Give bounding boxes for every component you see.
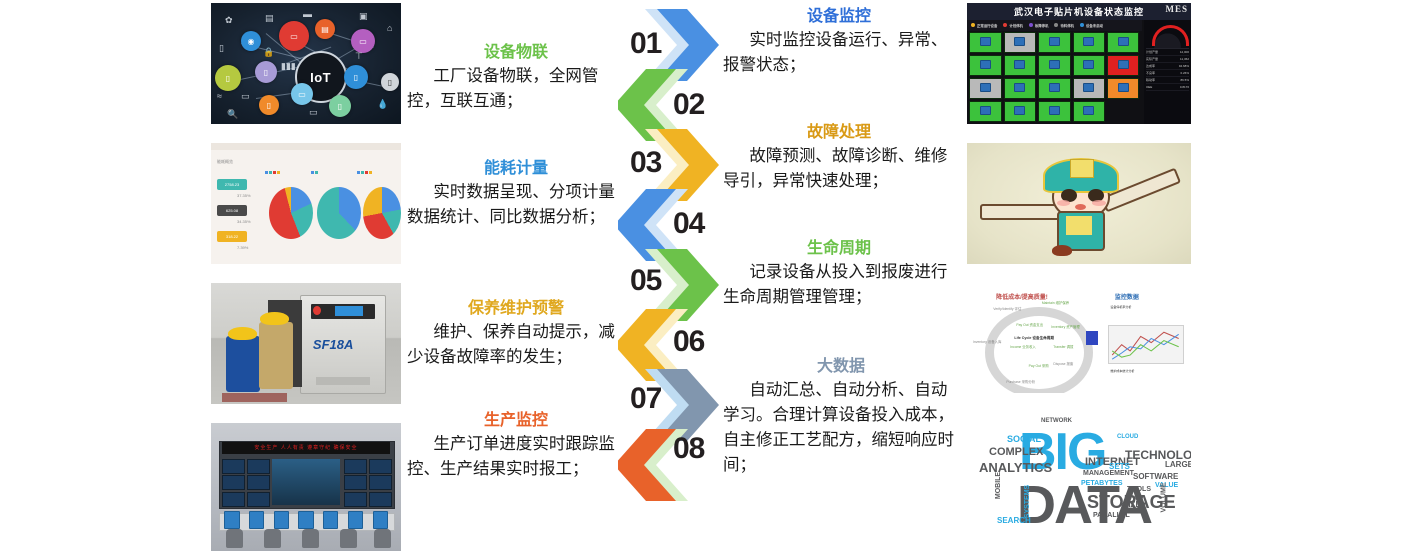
repair-mascot-image bbox=[967, 143, 1191, 264]
machine-model-label: SF18A bbox=[313, 337, 353, 352]
lifecycle-bullets-bottom: 维护成本统计分析 bbox=[1110, 369, 1186, 373]
step-number-04: 04 bbox=[673, 207, 704, 241]
step-text-04: 故障处理 故障预测、故障诊断、维修导引，异常快速处理； bbox=[723, 124, 955, 194]
mes-legend-1: 计划停机 bbox=[1009, 23, 1023, 28]
bigdata-word-complex: COMPLEX bbox=[989, 446, 1043, 458]
step-text-03: 能耗计量 实时数据呈现、分项计量数据统计、同比数据分析； bbox=[407, 160, 625, 230]
step-text-01: 设备物联 工厂设备物联，全网管控，互联互通； bbox=[407, 44, 625, 114]
step-number-01: 01 bbox=[630, 27, 661, 61]
energy-kpi-2-pct: 34.35% bbox=[237, 219, 251, 224]
step-number-03: 03 bbox=[630, 146, 661, 180]
lifecycle-node-maintain: Maintain 维护保养 bbox=[1036, 301, 1074, 305]
lifecycle-headline: 降低成本/提高质量! bbox=[996, 292, 1048, 301]
lifecycle-node-income: Income 业务收入 bbox=[1005, 345, 1041, 349]
control-room-banner: 安全生产 人人有责 遵章守纪 确保安全 bbox=[222, 442, 389, 454]
step-title-04: 故障处理 bbox=[723, 124, 955, 142]
bigdata-word-size: SIZE bbox=[1123, 500, 1141, 509]
lifecycle-node-inventory: Inventory 设备入库 bbox=[969, 340, 1005, 344]
worker-blue bbox=[226, 336, 260, 392]
step-number-08: 08 bbox=[673, 432, 704, 466]
bigdata-word-systems: SYSTEMS bbox=[1024, 485, 1031, 518]
lifecycle-node-inventory2: Inventory 资产管理 bbox=[1048, 325, 1084, 329]
mes-metric-5-value: 0.8176 bbox=[1180, 85, 1189, 89]
bigdata-word-parallel: PARALLEL bbox=[1093, 512, 1130, 519]
energy-pie-2 bbox=[317, 187, 361, 239]
step-title-06: 生命周期 bbox=[723, 240, 955, 258]
bigdata-word-network: NETWORK bbox=[1041, 418, 1072, 424]
mes-legend-4: 设备未启动 bbox=[1086, 23, 1103, 28]
mes-metric-0-value: 12,000 bbox=[1180, 50, 1189, 54]
bigdata-word-tools: TOOLS bbox=[1127, 486, 1151, 493]
energy-dashboard-image: 能耗概览 2758.23 37.35% 625.08 34.35% 318.22… bbox=[211, 143, 401, 264]
mes-side-metrics: 计划产量12,000 实际产量11,362 达成率94.68% 不良率0.26%… bbox=[1144, 20, 1191, 124]
step-title-03: 能耗计量 bbox=[407, 160, 625, 178]
step-title-08: 大数据 bbox=[723, 358, 959, 376]
step-title-02: 设备监控 bbox=[723, 8, 955, 26]
energy-pie-1 bbox=[269, 187, 313, 239]
step-text-07: 生产监控 生产订单进度实时跟踪监控、生产结果实时报工； bbox=[407, 412, 625, 482]
step-number-02: 02 bbox=[673, 88, 704, 122]
mes-metric-1-label: 实际产量 bbox=[1146, 57, 1158, 61]
bigdata-word-large: LARGE bbox=[1165, 460, 1191, 469]
lifecycle-center-label: Life Cycle 设备生命周期 bbox=[1012, 336, 1057, 341]
step-body-06: 记录设备从投入到报废进行生命周期管理管理； bbox=[723, 260, 955, 310]
control-room-photo-image: 安全生产 人人有责 遵章守纪 确保安全 bbox=[211, 423, 401, 551]
step-body-05: 维护、保养自动提示，减少设备故障率的发生； bbox=[407, 320, 625, 370]
step-number-05: 05 bbox=[630, 264, 661, 298]
maintenance-photo-image: SF18A bbox=[211, 283, 401, 404]
step-text-02: 设备监控 实时监控设备运行、异常、报警状态； bbox=[723, 8, 955, 78]
mes-machine-grid bbox=[969, 32, 1139, 122]
mes-metric-4-label: 稼动率 bbox=[1146, 78, 1155, 82]
energy-kpi-3-pct: 7.39% bbox=[237, 245, 248, 250]
lifecycle-node-transfer: Transfer 调拨 bbox=[1048, 345, 1079, 349]
step-number-06: 06 bbox=[673, 325, 704, 359]
mes-title: 武汉电子贴片机设备状态监控 bbox=[967, 3, 1191, 20]
step-text-06: 生命周期 记录设备从投入到报废进行生命周期管理管理； bbox=[723, 240, 955, 310]
step-body-03: 实时数据呈现、分项计量数据统计、同比数据分析； bbox=[407, 180, 625, 230]
big-data-wordcloud-image: BIG DATA ANALYTICS COMPLEX SOCIAL INTERN… bbox=[967, 404, 1191, 554]
mes-legend: 正常运行设备 计划停机 故障停机 待料停机 设备未启动 bbox=[967, 20, 1142, 31]
mes-tag: MES bbox=[1165, 4, 1188, 14]
mes-metric-3-label: 不良率 bbox=[1146, 71, 1155, 75]
bigdata-word-social: SOCIAL bbox=[1007, 434, 1041, 444]
mes-metric-2-value: 94.68% bbox=[1179, 64, 1189, 68]
energy-kpi-1: 2758.23 bbox=[217, 179, 247, 190]
step-title-05: 保养维护预警 bbox=[407, 300, 625, 318]
mes-gauge bbox=[1146, 22, 1189, 49]
mes-legend-0: 正常运行设备 bbox=[977, 23, 997, 28]
mes-metric-5-label: OEE bbox=[1146, 85, 1152, 89]
step-body-02: 实时监控设备运行、异常、报警状态； bbox=[723, 28, 955, 78]
mes-metric-4-value: 86.5% bbox=[1180, 78, 1189, 82]
lifecycle-bullets-top: 设备停机率分析 bbox=[1110, 305, 1186, 309]
mes-status-dashboard-image: 武汉电子贴片机设备状态监控 MES 正常运行设备 计划停机 故障停机 待料停机 … bbox=[967, 3, 1191, 124]
energy-kpi-2: 625.08 bbox=[217, 205, 247, 216]
step-body-08: 自动汇总、自动分析、自动学习。合理计算设备投入成本，自主修正工艺配方，缩短响应时… bbox=[723, 378, 959, 478]
iot-network-image: IoT ▭ ▤ ◉ ▭ ▯ ▯ ▭ ▯ ▯ ▯ ▯ ✿ ▤ ▬ ▣ ▯ 🔒 ▮▮… bbox=[211, 3, 401, 124]
mes-metric-1-value: 11,362 bbox=[1180, 57, 1189, 61]
lifecycle-node-purchase: Purchase 采购分析 bbox=[1001, 380, 1041, 384]
mes-metric-0-label: 计划产量 bbox=[1146, 50, 1158, 54]
mes-metric-2-label: 达成率 bbox=[1146, 64, 1155, 68]
energy-kpi-1-pct: 37.35% bbox=[237, 193, 251, 198]
bigdata-word-management: MANAGEMENT bbox=[1083, 470, 1134, 477]
bigdata-word-cloud: CLOUD bbox=[1117, 434, 1138, 440]
lifecycle-node-verify: Verify/Identify 评估 bbox=[989, 307, 1025, 311]
step-body-01: 工厂设备物联，全网管控，互联互通； bbox=[407, 64, 625, 114]
mes-legend-2: 故障停机 bbox=[1035, 23, 1049, 28]
bigdata-word-software: SOFTWARE bbox=[1133, 472, 1178, 481]
step-body-07: 生产订单进度实时跟踪监控、生产结果实时报工； bbox=[407, 432, 625, 482]
lifecycle-right-title: 监控数据 bbox=[1115, 292, 1139, 301]
energy-panel-title: 能耗概览 bbox=[217, 159, 233, 165]
infographic-stage: IoT ▭ ▤ ◉ ▭ ▯ ▯ ▭ ▯ ▯ ▯ ▯ ✿ ▤ ▬ ▣ ▯ 🔒 ▮▮… bbox=[0, 0, 1425, 558]
mes-legend-3: 待料停机 bbox=[1060, 23, 1074, 28]
lifecycle-node-payout: Pay Out 资金支出 bbox=[1012, 323, 1048, 327]
energy-kpi-3: 318.22 bbox=[217, 231, 247, 242]
bigdata-word-volume: VOLUME bbox=[1160, 483, 1167, 513]
lifecycle-node-dispose: Dispose 报废 bbox=[1048, 362, 1079, 366]
lifecycle-diagram-image: 降低成本/提高质量! 监控数据 Inventory 设备入库 Verify/Id… bbox=[967, 283, 1191, 393]
step-title-01: 设备物联 bbox=[407, 44, 625, 62]
step-body-04: 故障预测、故障诊断、维修导引，异常快速处理； bbox=[723, 144, 955, 194]
energy-pie-3 bbox=[363, 187, 401, 239]
step-text-05: 保养维护预警 维护、保养自动提示，减少设备故障率的发生； bbox=[407, 300, 625, 370]
bigdata-word-mobile: MOBILE bbox=[995, 472, 1002, 499]
step-text-08: 大数据 自动汇总、自动分析、自动学习。合理计算设备投入成本，自主修正工艺配方，缩… bbox=[723, 358, 959, 478]
bigdata-word-sets: SETS bbox=[1109, 462, 1130, 471]
step-number-07: 07 bbox=[630, 382, 661, 416]
bigdata-word-analytics: ANALYTICS bbox=[979, 460, 1052, 475]
step-title-07: 生产监控 bbox=[407, 412, 625, 430]
mes-metric-3-value: 0.26% bbox=[1180, 71, 1189, 75]
worker-khaki bbox=[259, 322, 293, 390]
bigdata-word-petabytes: PETABYTES bbox=[1081, 480, 1123, 487]
